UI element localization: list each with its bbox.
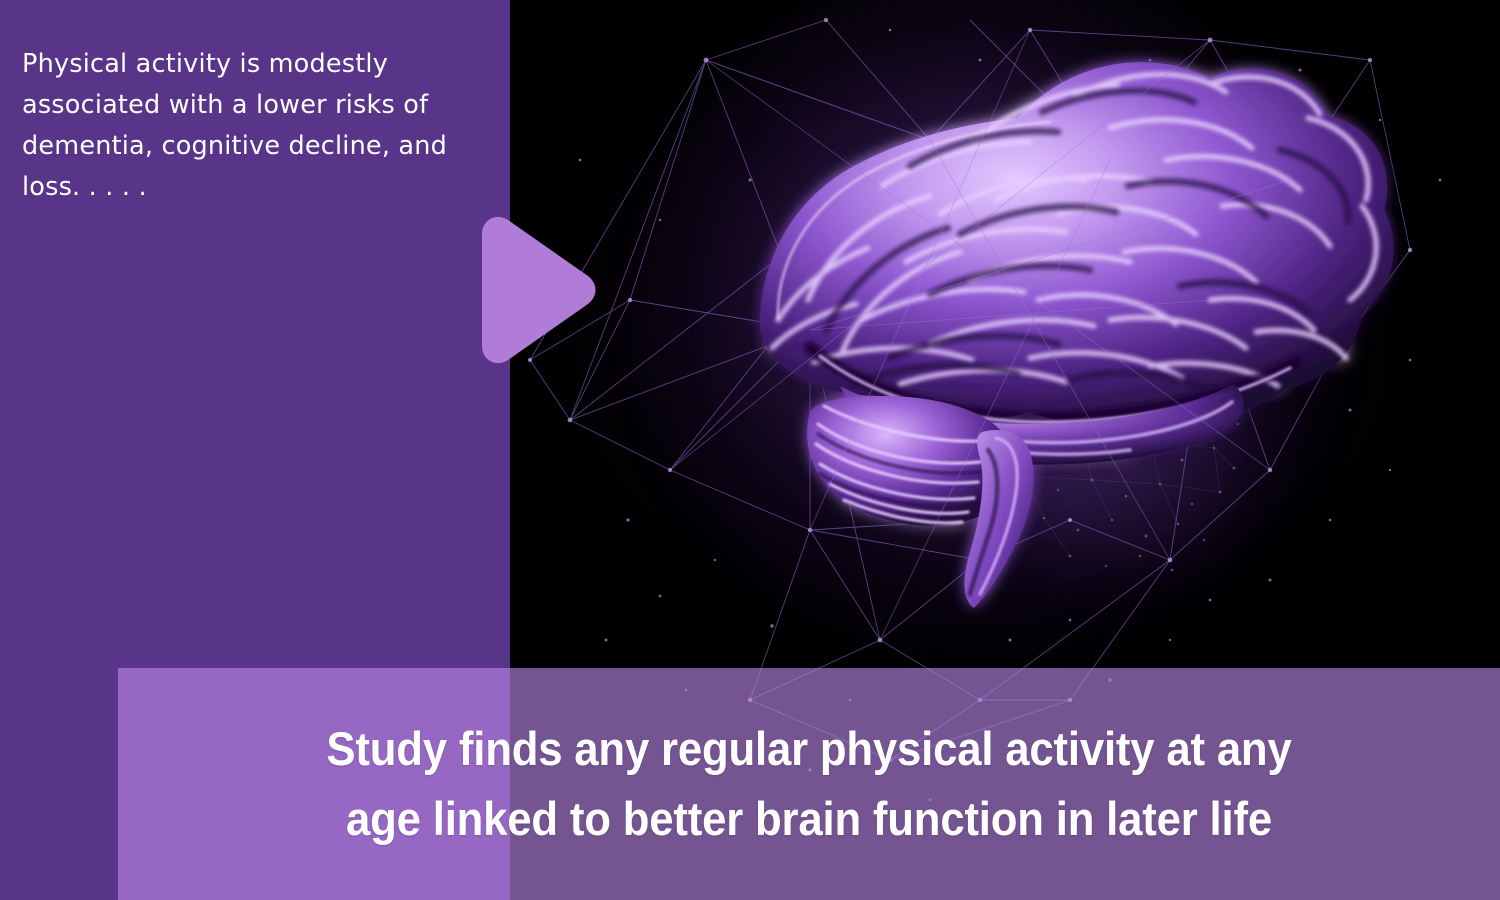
video-thumbnail-card: Physical activity is modestly associated… (0, 0, 1500, 900)
play-triangle-icon (462, 212, 598, 368)
play-button[interactable] (462, 212, 598, 368)
caption-bar: Study finds any regular physical activit… (118, 668, 1500, 900)
caption-line-1: Study finds any regular physical activit… (232, 714, 1385, 784)
caption-headline: Study finds any regular physical activit… (232, 714, 1385, 854)
caption-line-2: age linked to better brain function in l… (232, 784, 1385, 854)
quote-text: Physical activity is modestly associated… (22, 44, 500, 208)
